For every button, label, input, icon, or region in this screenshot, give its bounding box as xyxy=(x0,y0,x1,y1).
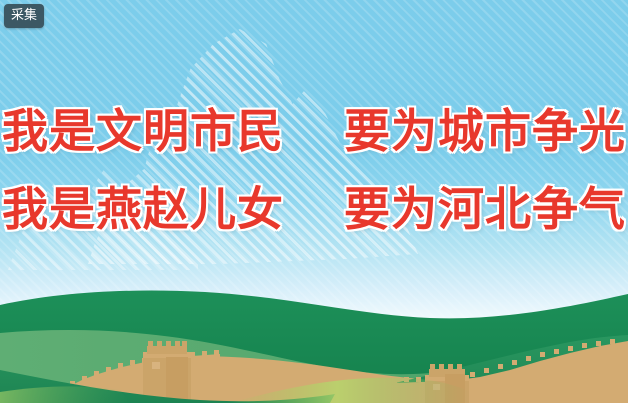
headline-line-1: 我是文明市民 要为城市争光 xyxy=(0,92,628,170)
headline-line-2-left: 我是燕赵儿女 xyxy=(2,182,284,236)
capture-button[interactable]: 采集 xyxy=(4,4,44,28)
headline-line-2: 我是燕赵儿女 要为河北争气 xyxy=(0,170,628,248)
watch-tower-left xyxy=(143,341,191,403)
headline-line-2-right: 要为河北争气 xyxy=(344,182,626,236)
headline-line-1-right: 要为城市争光 xyxy=(344,104,626,158)
poster-headline: 我是文明市民 要为城市争光 我是燕赵儿女 要为河北争气 xyxy=(0,92,628,248)
poster-image: 我是文明市民 要为城市争光 我是燕赵儿女 要为河北争气 采集 xyxy=(0,0,628,403)
headline-line-1-left: 我是文明市民 xyxy=(2,104,284,158)
